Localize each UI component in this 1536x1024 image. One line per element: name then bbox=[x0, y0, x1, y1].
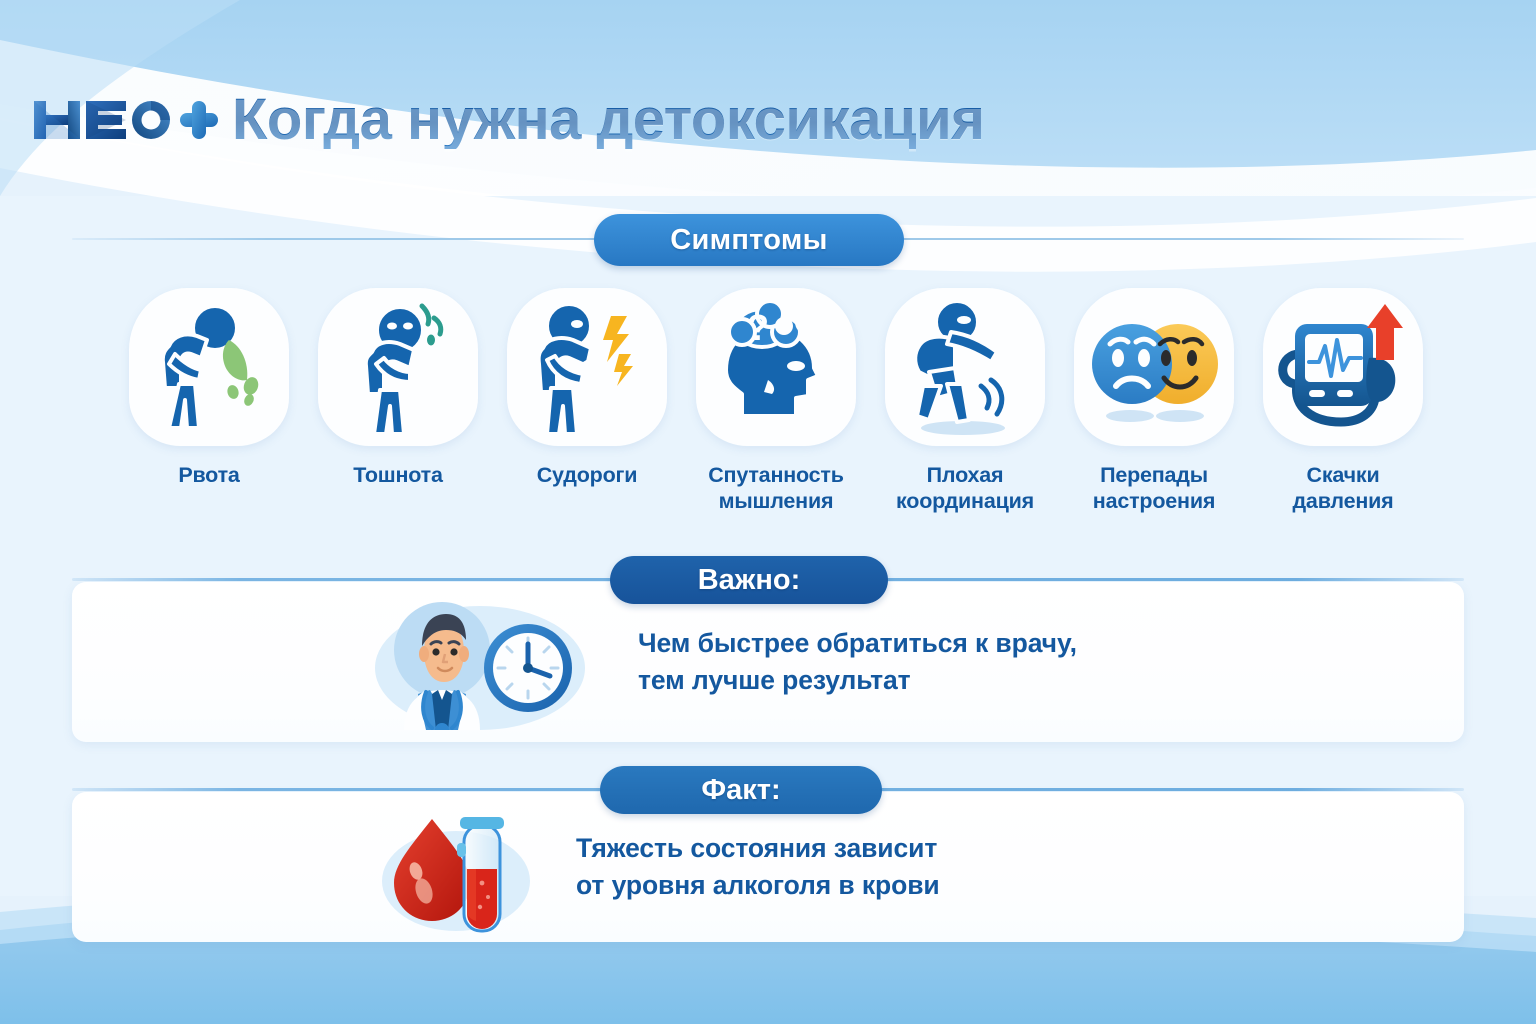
fact-line-1: Тяжесть состояния зависит bbox=[576, 830, 940, 867]
sad-happy-faces-icon bbox=[1074, 288, 1234, 446]
infographic-canvas: Когда нужна детоксикация Симптомы bbox=[0, 0, 1536, 1024]
important-line-2: тем лучше результат bbox=[638, 662, 1077, 699]
fact-text: Тяжесть состояния зависит от уровня алко… bbox=[576, 830, 940, 903]
head-thought-cloud-question-icon: ? bbox=[696, 288, 856, 446]
symptoms-badge: Симптомы bbox=[594, 214, 904, 266]
symptom-item-mood[interactable]: Перепадынастроения bbox=[1071, 288, 1237, 538]
neo-plus-logo-icon bbox=[30, 91, 220, 149]
important-card: Чем быстрее обратиться к врачу, тем лучш… bbox=[72, 582, 1464, 742]
symptom-icon-card bbox=[885, 288, 1045, 446]
fact-card: Тяжесть состояния зависит от уровня алко… bbox=[72, 792, 1464, 942]
symptom-label: Спутанностьмышления bbox=[708, 462, 844, 514]
important-badge: Важно: bbox=[610, 556, 888, 604]
person-cramps-lightning-icon bbox=[507, 288, 667, 446]
person-nausea-icon bbox=[318, 288, 478, 446]
symptom-icon-card bbox=[1263, 288, 1423, 446]
fact-line-2: от уровня алкоголя в крови bbox=[576, 867, 940, 904]
symptom-icon-card bbox=[318, 288, 478, 446]
symptom-label: Плохаякоординация bbox=[896, 462, 1034, 514]
page-title: Когда нужна детоксикация bbox=[232, 91, 984, 149]
blood-pressure-monitor-icon bbox=[1263, 288, 1423, 446]
symptom-item-cramps[interactable]: Судороги bbox=[504, 288, 670, 538]
symptom-item-confusion[interactable]: ? Спутанностьмышления bbox=[693, 288, 859, 538]
symptom-icon-card bbox=[507, 288, 667, 446]
blood-drop-and-test-tube-illustration bbox=[376, 795, 546, 940]
symptom-icon-card bbox=[1074, 288, 1234, 446]
fact-badge: Факт: bbox=[600, 766, 882, 814]
person-stumbling-icon bbox=[885, 288, 1045, 446]
symptom-label: Перепадынастроения bbox=[1093, 462, 1215, 514]
symptom-list: Рвота bbox=[126, 288, 1426, 538]
symptom-label: Скачкидавления bbox=[1292, 462, 1393, 514]
symptom-label: Тошнота bbox=[353, 462, 443, 488]
symptom-icon-card bbox=[129, 288, 289, 446]
page-header: Когда нужна детоксикация bbox=[0, 70, 1536, 170]
important-line-1: Чем быстрее обратиться к врачу, bbox=[638, 625, 1077, 662]
symptom-item-vomiting[interactable]: Рвота bbox=[126, 288, 292, 538]
doctor-with-clock-illustration bbox=[370, 590, 600, 735]
symptom-label: Рвота bbox=[178, 462, 239, 488]
symptom-item-pressure[interactable]: Скачкидавления bbox=[1260, 288, 1426, 538]
brand-logo[interactable] bbox=[30, 91, 220, 149]
symptom-item-nausea[interactable]: Тошнота bbox=[315, 288, 481, 538]
svg-text:?: ? bbox=[747, 307, 769, 348]
symptom-icon-card: ? bbox=[696, 288, 856, 446]
symptom-item-coordination[interactable]: Плохаякоординация bbox=[882, 288, 1048, 538]
person-vomiting-icon bbox=[129, 288, 289, 446]
symptom-label: Судороги bbox=[537, 462, 638, 488]
important-text: Чем быстрее обратиться к врачу, тем лучш… bbox=[638, 625, 1077, 698]
